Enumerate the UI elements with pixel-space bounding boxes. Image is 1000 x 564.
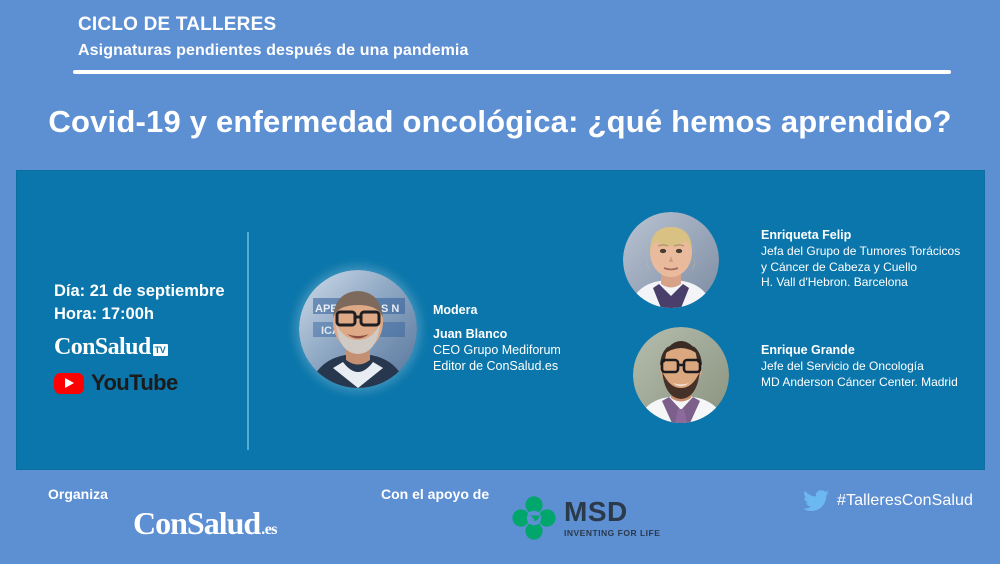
moderator-role-line-2: Editor de ConSalud.es xyxy=(433,358,561,374)
moderator-label: Modera xyxy=(433,303,561,317)
consalud-es-logo: ConSalud .es xyxy=(133,505,277,542)
msd-sponsor-logo: MSD INVENTING FOR LIFE xyxy=(512,496,660,540)
header-divider-rule xyxy=(73,70,951,74)
speaker-role-line-1: Jefa del Grupo de Tumores Torácicos xyxy=(761,244,960,260)
consalud-tv-wordmark: ConSalud xyxy=(54,335,151,359)
vertical-divider xyxy=(247,232,249,450)
youtube-play-icon xyxy=(54,373,84,394)
avatar xyxy=(633,327,729,423)
moderator-name: Juan Blanco xyxy=(433,326,561,342)
speaker-role-line-2: y Cáncer de Cabeza y Cuello xyxy=(761,260,960,276)
speaker-affiliation: H. Vall d'Hebron. Barcelona xyxy=(761,275,960,291)
event-schedule: Día: 21 de septiembre Hora: 17:00h xyxy=(54,280,225,326)
msd-tagline: INVENTING FOR LIFE xyxy=(564,528,660,538)
page-title: Covid-19 y enfermedad oncológica: ¿qué h… xyxy=(0,104,1000,140)
msd-clover-icon xyxy=(512,496,556,540)
moderator-info: Modera Juan Blanco CEO Grupo Mediforum E… xyxy=(433,303,561,374)
speaker-felip-portrait-icon xyxy=(623,212,719,308)
youtube-logo[interactable]: YouTube xyxy=(54,370,178,396)
apoyo-label: Con el apoyo de xyxy=(381,486,489,502)
speaker-affiliation: MD Anderson Cáncer Center. Madrid xyxy=(761,375,958,391)
twitter-hashtag-block[interactable]: #TalleresConSalud xyxy=(803,490,973,512)
speaker-role-line-1: Jefe del Servicio de Oncología xyxy=(761,359,958,375)
speaker-grande-portrait-icon xyxy=(633,327,729,423)
event-hashtag: #TalleresConSalud xyxy=(837,492,973,510)
consalud-tv-logo: ConSalud TV xyxy=(54,335,168,359)
series-kicker: CICLO DE TALLERES xyxy=(78,14,276,36)
consalud-domain-suffix: .es xyxy=(261,521,277,539)
speaker-name: Enrique Grande xyxy=(761,342,958,359)
series-subtitle: Asignaturas pendientes después de una pa… xyxy=(78,42,468,60)
main-panel: Día: 21 de septiembre Hora: 17:00h ConSa… xyxy=(16,170,985,470)
event-date: Día: 21 de septiembre xyxy=(54,280,225,303)
moderator-role-line-1: CEO Grupo Mediforum xyxy=(433,342,561,358)
consalud-wordmark: ConSalud xyxy=(133,505,260,542)
poster-footer: Organiza ConSalud .es Con el apoyo de MS… xyxy=(0,470,1000,564)
poster-canvas: CICLO DE TALLERES Asignaturas pendientes… xyxy=(0,0,1000,564)
speaker-info-felip: Enriqueta Felip Jefa del Grupo de Tumore… xyxy=(761,227,960,291)
avatar xyxy=(623,212,719,308)
moderator-portrait-icon: APE AS N ICA xyxy=(299,270,417,388)
poster-header: CICLO DE TALLERES Asignaturas pendientes… xyxy=(0,0,1000,160)
twitter-bird-icon xyxy=(803,490,829,512)
avatar: APE AS N ICA xyxy=(299,270,417,388)
event-time: Hora: 17:00h xyxy=(54,303,225,326)
msd-wordmark: MSD xyxy=(564,498,660,526)
tv-chip-label: TV xyxy=(153,344,168,356)
speaker-name: Enriqueta Felip xyxy=(761,227,960,244)
speaker-info-grande: Enrique Grande Jefe del Servicio de Onco… xyxy=(761,342,958,390)
youtube-wordmark: YouTube xyxy=(91,370,178,396)
organiza-label: Organiza xyxy=(48,486,108,502)
